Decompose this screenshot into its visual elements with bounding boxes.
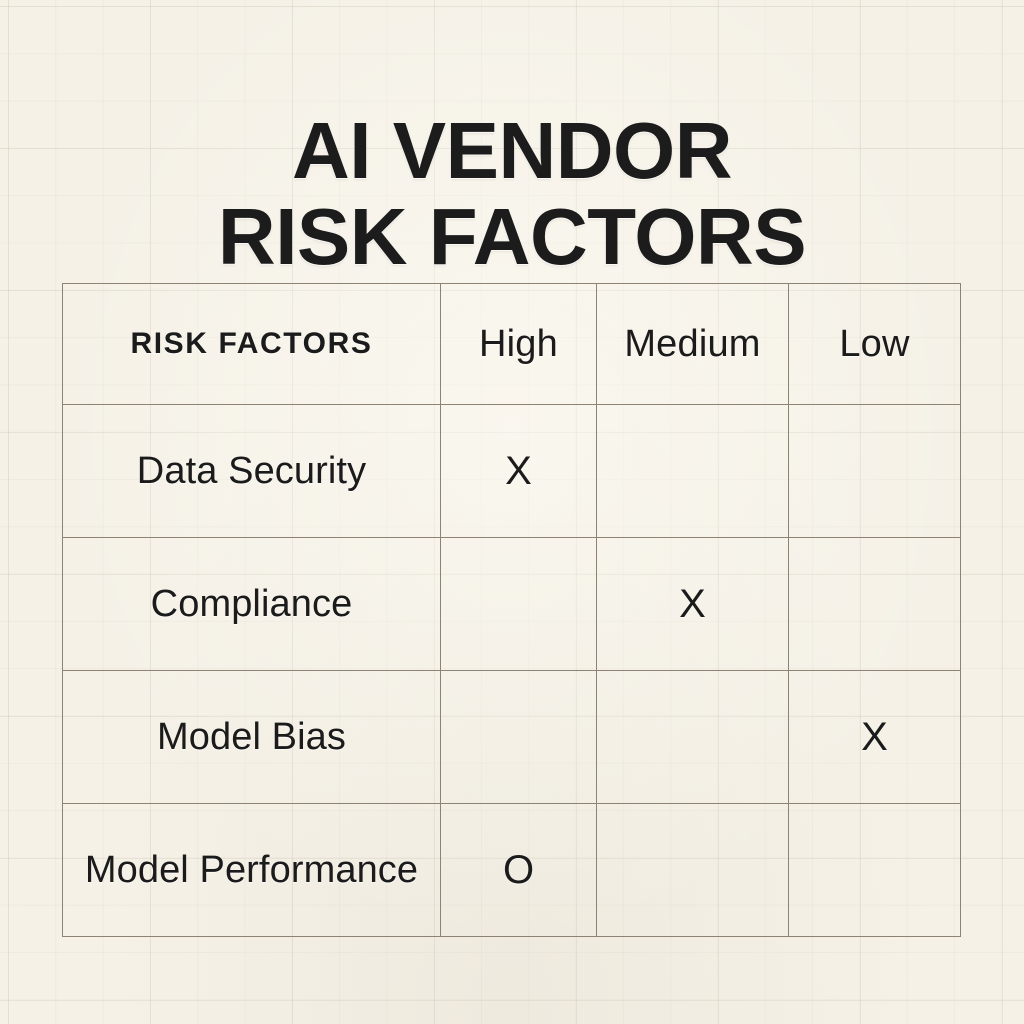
column-header-risk-factors: RISK FACTORS xyxy=(63,284,441,405)
table-body: Data Security X Compliance X Model Bias … xyxy=(63,405,961,937)
page-title-line-1: AI VENDOR xyxy=(0,108,1024,194)
poster-canvas: AI VENDOR RISK FACTORS RISK FACTORS High… xyxy=(0,0,1024,1024)
cell-compliance-low[interactable] xyxy=(789,538,961,671)
cell-compliance-medium[interactable]: X xyxy=(597,538,789,671)
cell-model-performance-high[interactable]: O xyxy=(441,804,597,937)
row-label-model-performance: Model Performance xyxy=(63,804,441,937)
row-label-model-bias: Model Bias xyxy=(63,671,441,804)
cell-model-performance-low[interactable] xyxy=(789,804,961,937)
risk-factors-table: RISK FACTORS High Medium Low Data Securi… xyxy=(62,283,961,937)
cell-data-security-low[interactable] xyxy=(789,405,961,538)
page-title-line-2: RISK FACTORS xyxy=(0,194,1024,280)
cell-data-security-medium[interactable] xyxy=(597,405,789,538)
table-row: Compliance X xyxy=(63,538,961,671)
table-row: Model Performance O xyxy=(63,804,961,937)
table-row: Model Bias X xyxy=(63,671,961,804)
column-header-high: High xyxy=(441,284,597,405)
cell-model-bias-medium[interactable] xyxy=(597,671,789,804)
table-header: RISK FACTORS High Medium Low xyxy=(63,284,961,405)
row-label-compliance: Compliance xyxy=(63,538,441,671)
page-title: AI VENDOR RISK FACTORS xyxy=(0,108,1024,280)
row-label-data-security: Data Security xyxy=(63,405,441,538)
column-header-low: Low xyxy=(789,284,961,405)
cell-model-bias-low[interactable]: X xyxy=(789,671,961,804)
cell-model-bias-high[interactable] xyxy=(441,671,597,804)
table-header-row: RISK FACTORS High Medium Low xyxy=(63,284,961,405)
cell-data-security-high[interactable]: X xyxy=(441,405,597,538)
cell-model-performance-medium[interactable] xyxy=(597,804,789,937)
table-row: Data Security X xyxy=(63,405,961,538)
cell-compliance-high[interactable] xyxy=(441,538,597,671)
column-header-medium: Medium xyxy=(597,284,789,405)
